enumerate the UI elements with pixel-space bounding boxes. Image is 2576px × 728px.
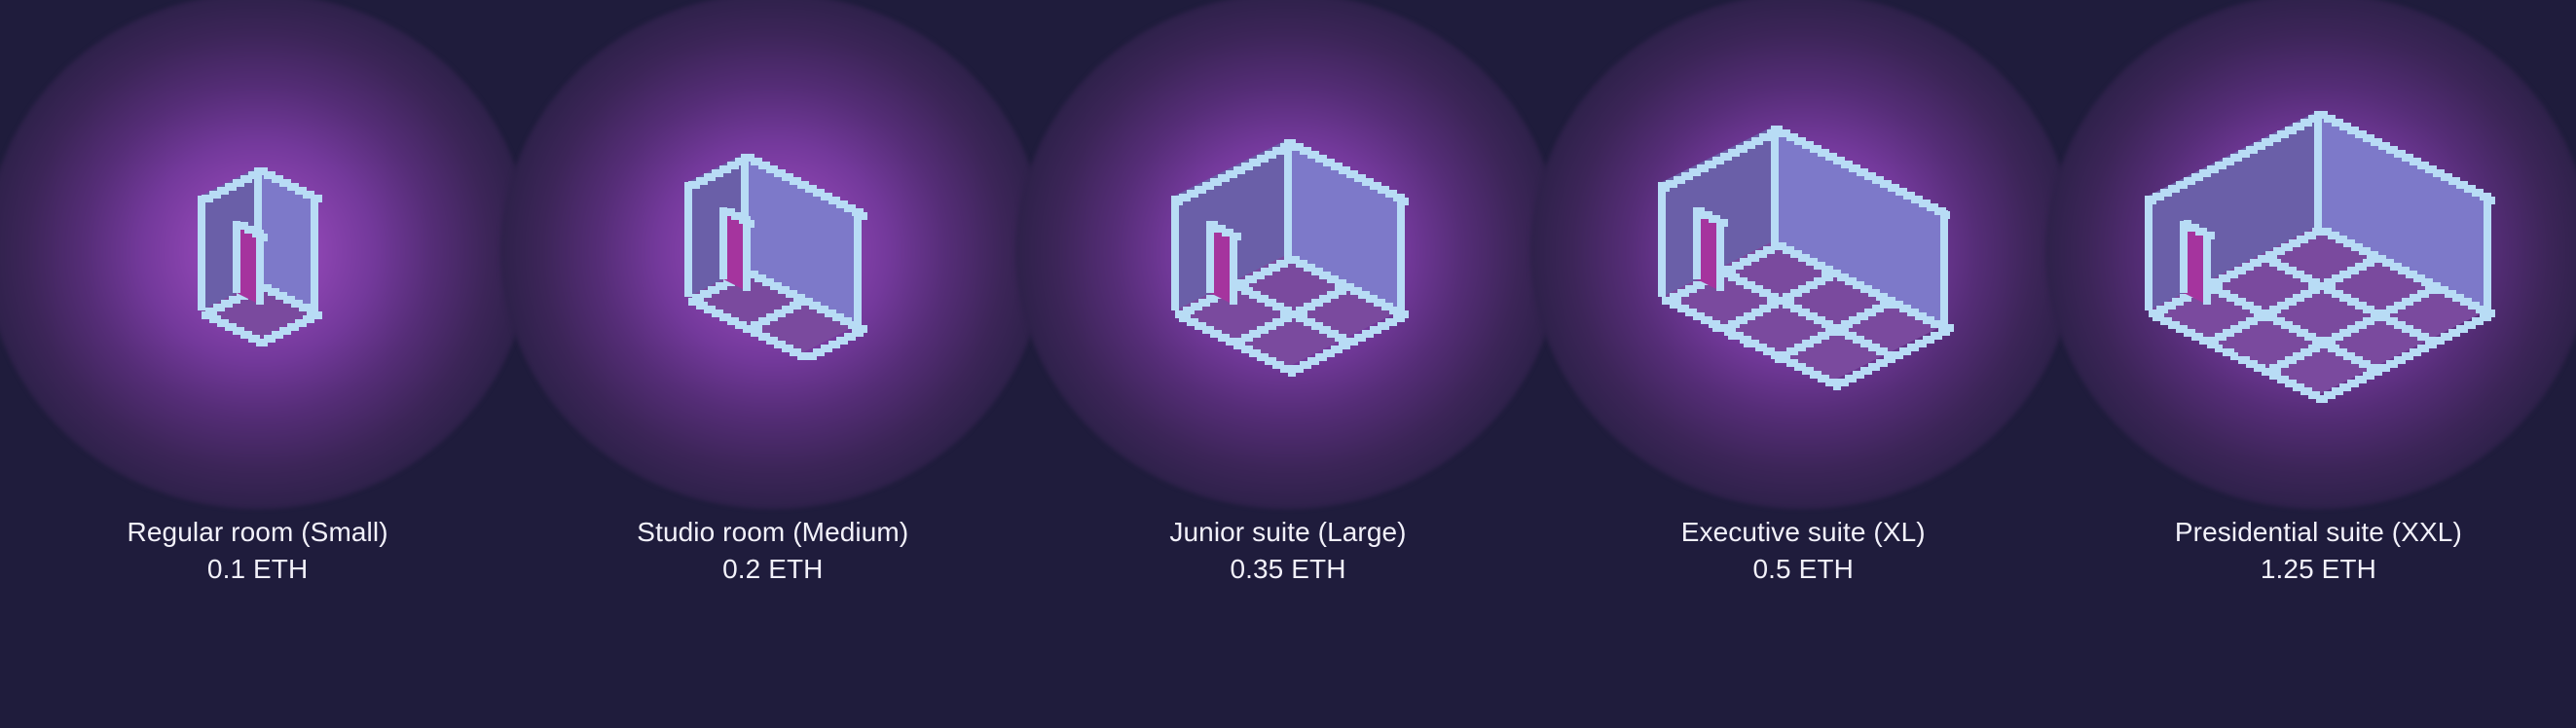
room-price: 0.1 ETH	[0, 551, 515, 588]
room-labels: Studio room (Medium)0.2 ETH	[515, 514, 1030, 587]
room-name: Studio room (Medium)	[515, 514, 1030, 551]
room-labels: Regular room (Small)0.1 ETH	[0, 514, 515, 587]
room-option-regular-small[interactable]: Regular room (Small)0.1 ETH	[0, 0, 515, 728]
room-name: Executive suite (XL)	[1546, 514, 2061, 551]
room-price: 0.5 ETH	[1546, 551, 2061, 588]
room-name: Regular room (Small)	[0, 514, 515, 551]
room-price: 1.25 ETH	[2061, 551, 2576, 588]
room-option-junior-large[interactable]: Junior suite (Large)0.35 ETH	[1030, 0, 1545, 728]
room-price: 0.2 ETH	[515, 551, 1030, 588]
isometric-room-icon[interactable]	[1546, 0, 2061, 506]
isometric-room-icon[interactable]	[2061, 0, 2576, 506]
room-option-executive-xl[interactable]: Executive suite (XL)0.5 ETH	[1546, 0, 2061, 728]
isometric-room-icon[interactable]	[515, 0, 1030, 506]
room-option-studio-medium[interactable]: Studio room (Medium)0.2 ETH	[515, 0, 1030, 728]
room-name: Presidential suite (XXL)	[2061, 514, 2576, 551]
room-price: 0.35 ETH	[1030, 551, 1545, 588]
room-labels: Executive suite (XL)0.5 ETH	[1546, 514, 2061, 587]
room-labels: Junior suite (Large)0.35 ETH	[1030, 514, 1545, 587]
isometric-room-icon[interactable]	[0, 0, 515, 506]
room-labels: Presidential suite (XXL)1.25 ETH	[2061, 514, 2576, 587]
isometric-room-icon[interactable]	[1030, 0, 1545, 506]
room-option-presidential-xxl[interactable]: Presidential suite (XXL)1.25 ETH	[2061, 0, 2576, 728]
room-size-selector: Regular room (Small)0.1 ETHStudio room (…	[0, 0, 2576, 728]
room-name: Junior suite (Large)	[1030, 514, 1545, 551]
